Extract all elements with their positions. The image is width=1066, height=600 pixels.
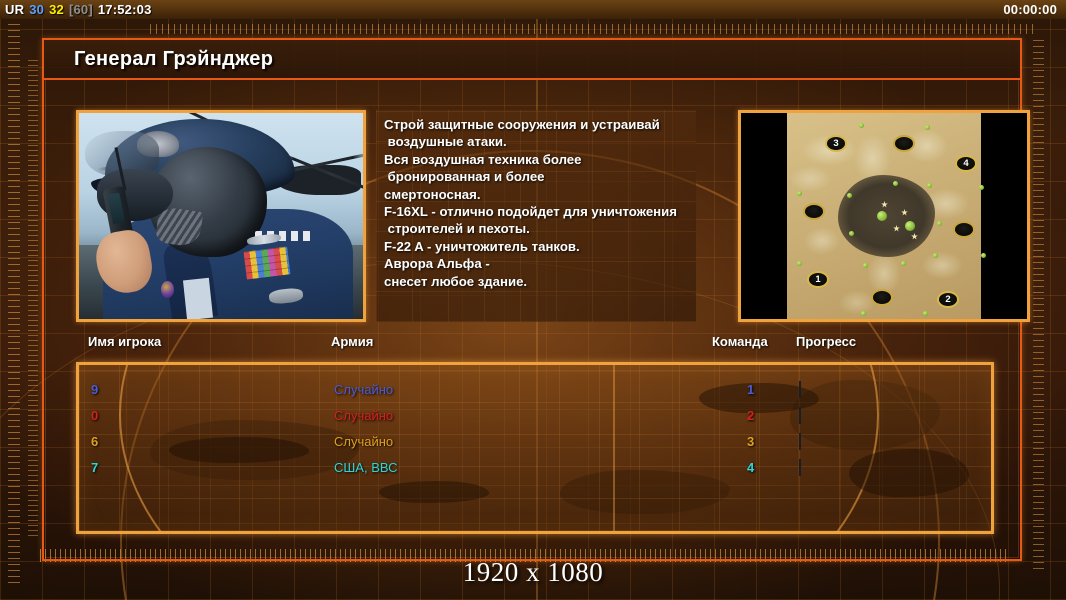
progress-bar — [799, 381, 801, 398]
player-panel-landmass — [379, 481, 489, 503]
resolution-caption: 1920 x 1080 — [0, 557, 1066, 588]
radio-display — [107, 193, 125, 225]
description-line: Вся воздушная техника более — [384, 151, 692, 168]
player-name: 6 — [91, 429, 98, 455]
map-resource-dot — [901, 261, 906, 266]
ruler-top — [150, 24, 1036, 34]
player-progress — [799, 377, 801, 403]
map-resource-dot — [863, 263, 868, 268]
ruler-right — [1033, 40, 1044, 570]
dialog-title-bar: Генерал Грэйнджер — [44, 40, 1020, 80]
fps-cap: [60] — [69, 2, 93, 17]
player-army[interactable]: США, ВВС — [334, 455, 398, 481]
player-progress — [799, 429, 801, 455]
map-resource-dot — [859, 123, 864, 128]
player-list-panel: 9 Случайно 1 0 Случайно 2 6 Случайно 3 7… — [76, 362, 994, 534]
map-resource-dot — [893, 181, 898, 186]
player-table-headers: Имя игрока Армия Команда Прогресс — [76, 334, 994, 358]
player-team[interactable]: 3 — [747, 429, 754, 455]
description-line: снесет любое здание. — [384, 273, 692, 290]
description-line: F-22 A - уничтожитель танков. — [384, 238, 692, 255]
description-line: смертоносная. — [384, 186, 692, 203]
map-letterbox-right — [981, 113, 1027, 319]
player-progress — [799, 403, 801, 429]
table-row[interactable]: 9 Случайно 1 — [79, 377, 991, 403]
map-neutral-marker — [893, 135, 915, 152]
player-name: 7 — [91, 455, 98, 481]
map-preview[interactable]: 3 4 1 2 — [738, 110, 1030, 322]
map-resource-dot — [927, 183, 932, 188]
ur-indicator: UR — [5, 2, 24, 17]
map-resource-dot — [797, 191, 802, 196]
map-resource-dot — [981, 253, 986, 258]
map-neutral-marker — [803, 203, 825, 220]
player-team[interactable]: 1 — [747, 377, 754, 403]
map-neutral-marker — [871, 289, 893, 306]
table-row[interactable]: 7 США, ВВС 4 — [79, 455, 991, 481]
match-timer: 00:00:00 — [1003, 2, 1061, 17]
progress-bar — [799, 407, 801, 424]
map-resource-dot — [937, 221, 942, 226]
general-description-panel: Строй защитные сооружения и устраивай во… — [376, 110, 696, 322]
map-resource-dot — [933, 253, 938, 258]
description-line: строителей и пехоты. — [384, 220, 692, 237]
ruler-left — [8, 24, 20, 586]
service-ribbons-icon — [243, 246, 290, 279]
description-line: воздушные атаки. — [384, 133, 692, 150]
table-row[interactable]: 0 Случайно 2 — [79, 403, 991, 429]
description-line: F-16XL - отлично подойдет для уничтожени… — [384, 203, 692, 220]
map-spawn-marker-3[interactable]: 3 — [825, 135, 847, 152]
general-portrait-image — [79, 113, 363, 319]
map-resource-dot — [797, 261, 802, 266]
map-resource-dot — [877, 211, 887, 221]
general-info-dialog: Генерал Грэйнджер — [42, 38, 1022, 561]
ruler-left-secondary — [28, 60, 38, 540]
map-resource-dot — [861, 311, 866, 316]
progress-bar — [799, 433, 801, 450]
map-resource-dot — [849, 231, 854, 236]
description-line: бронированная и более — [384, 168, 692, 185]
upper-content-region: Строй защитные сооружения и устраивай во… — [76, 110, 994, 322]
map-resource-dot — [923, 311, 928, 316]
fps-value: 32 — [49, 2, 64, 17]
ur-label: UR — [5, 2, 24, 17]
system-clock: 17:52:03 — [98, 2, 152, 17]
player-progress — [799, 455, 801, 481]
column-header-team: Команда — [712, 334, 768, 349]
purple-heart-medal-icon — [161, 281, 174, 298]
top-status-bar: UR 30 32 [60] 17:52:03 00:00:00 — [0, 0, 1066, 19]
player-name: 0 — [91, 403, 98, 429]
map-resource-dot — [979, 185, 984, 190]
map-spawn-marker-4[interactable]: 4 — [955, 155, 977, 172]
fps-current: 30 — [29, 2, 44, 17]
general-portrait-frame — [76, 110, 366, 322]
player-army[interactable]: Случайно — [334, 429, 393, 455]
column-header-progress: Прогресс — [796, 334, 856, 349]
player-army[interactable]: Случайно — [334, 403, 393, 429]
column-header-name: Имя игрока — [88, 334, 161, 349]
player-team[interactable]: 2 — [747, 403, 754, 429]
game-screen: UR 30 32 [60] 17:52:03 00:00:00 Генерал … — [0, 0, 1066, 600]
table-row[interactable]: 6 Случайно 3 — [79, 429, 991, 455]
description-line: Аврора Альфа - — [384, 255, 692, 272]
player-name: 9 — [91, 377, 98, 403]
map-letterbox-left — [741, 113, 787, 319]
uniform-shirt — [183, 278, 213, 319]
description-line: Строй защитные сооружения и устраивай — [384, 116, 692, 133]
map-spawn-marker-1[interactable]: 1 — [807, 271, 829, 288]
map-resource-dot — [925, 125, 930, 130]
column-header-army: Армия — [331, 334, 373, 349]
map-resource-dot — [905, 221, 915, 231]
map-resource-dot — [847, 193, 852, 198]
player-team[interactable]: 4 — [747, 455, 754, 481]
map-neutral-marker — [953, 221, 975, 238]
page-title: Генерал Грэйнджер — [74, 48, 273, 71]
map-spawn-marker-2[interactable]: 2 — [937, 291, 959, 308]
player-army[interactable]: Случайно — [334, 377, 393, 403]
progress-bar — [799, 459, 801, 476]
